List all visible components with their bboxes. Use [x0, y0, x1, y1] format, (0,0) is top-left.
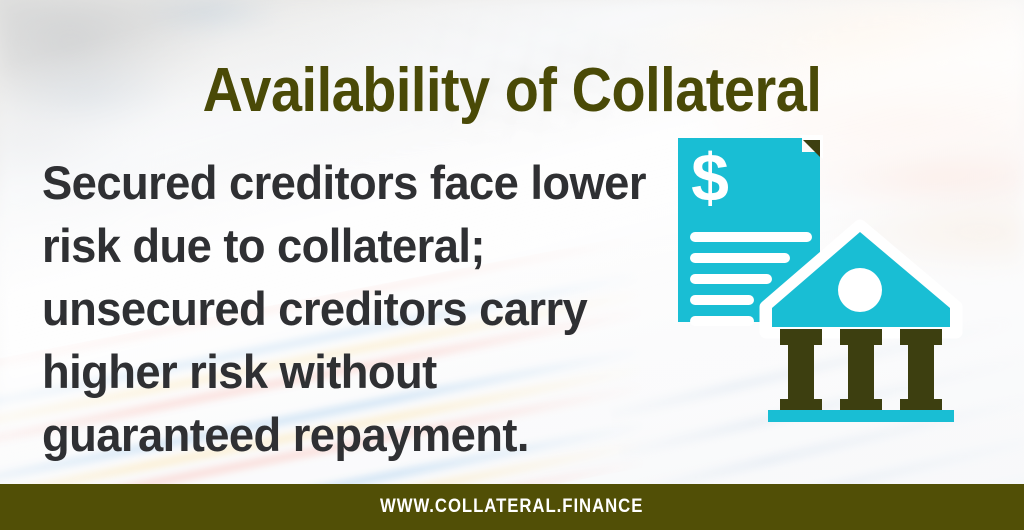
- body-paragraph: Secured creditors face lower risk due to…: [42, 151, 650, 466]
- bank-column: [780, 329, 822, 415]
- page-title: Availability of Collateral: [51, 60, 973, 122]
- collateral-illustration: $: [660, 122, 980, 422]
- dollar-sign-icon: $: [691, 140, 729, 216]
- bank-medallion: [838, 268, 882, 312]
- bank-column: [900, 329, 942, 415]
- infographic-canvas: Availability of Collateral Secured credi…: [0, 0, 1024, 530]
- svg-text:$: $: [691, 140, 729, 216]
- footer-bar: WWW.COLLATERAL.FINANCE: [0, 484, 1024, 530]
- bank-base-bar: [768, 410, 954, 422]
- bank-columns: [780, 329, 942, 415]
- footer-website-url: WWW.COLLATERAL.FINANCE: [380, 496, 643, 518]
- bank-column: [840, 329, 882, 415]
